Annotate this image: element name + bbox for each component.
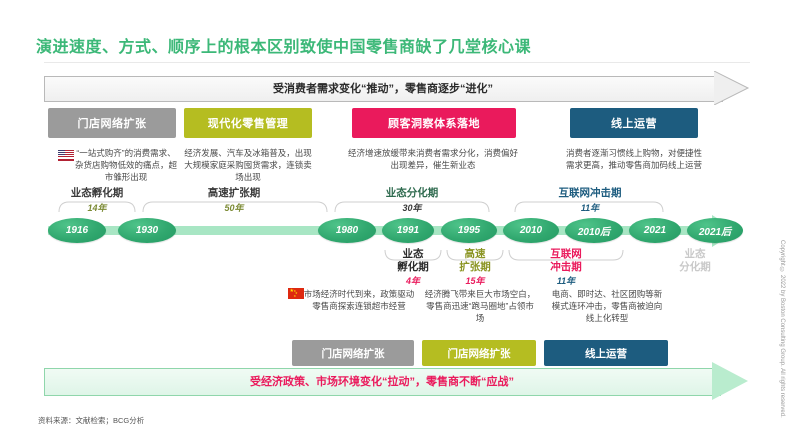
bottom-phase-box-1[interactable]: 门店网络扩张 [292, 340, 414, 366]
bottom-banner-arrow: 受经济政策、市场环境变化“拉动”，零售商不断“应战” [44, 368, 748, 394]
timeline-node-label: 1995 [458, 225, 480, 236]
top-phase-label-1: 门店网络扩张 [78, 115, 147, 131]
top-phase-desc-4: 消费者逐渐习惯线上购物，对便捷性需求更高，推动零售商加码线上运营 [566, 147, 702, 171]
top-phase-desc-2: 经济发展、汽车及冰箱普及，出现大规模家庭采购囤货需求，连锁卖场出现 [182, 147, 314, 183]
top-phase-box-2[interactable]: 现代化零售管理 [184, 108, 312, 138]
lower-era-desc-2: 经济腾飞带来巨大市场空白，零售商迅速“跑马圈地”占领市场 [424, 288, 536, 324]
top-phase-desc-3: 经济增速放缓带来消费者需求分化，消费偏好出现差异，催生新业态 [348, 147, 518, 171]
lower-era-line2-1: 孵化期 [383, 261, 443, 274]
upper-bracket-4 [514, 199, 664, 213]
top-phase-label-2: 现代化零售管理 [208, 115, 289, 131]
lower-era-desc-3: 电商、即时达、社区团购等新模式连环冲击，零售商被迫向线上化转型 [548, 288, 666, 324]
timeline-node-1916[interactable]: 1916 [48, 218, 106, 243]
timeline-node-2021hou[interactable]: 2021后 [687, 218, 743, 243]
bottom-phase-label-3: 线上运营 [585, 346, 627, 361]
lower-era-years-3: 11年 [536, 274, 596, 287]
timeline-node-label: 2021 [644, 225, 666, 236]
timeline-node-label: 2010后 [578, 223, 610, 238]
lower-era-line2-3: 冲击期 [536, 261, 596, 274]
bottom-phase-box-3[interactable]: 线上运营 [544, 340, 668, 366]
timeline-node-2010[interactable]: 2010 [503, 218, 559, 243]
top-phase-desc-1: “一站式购齐”的消费需求、杂货店购物低效的痛点，超市雏形出现 [74, 147, 178, 183]
copyright-note: Copyright © 2022 by Boston Consulting Gr… [779, 240, 785, 418]
top-phase-label-3: 顾客洞察体系落地 [388, 115, 480, 131]
lower-era-line1-1: 业态 [383, 248, 443, 261]
timeline-node-1991[interactable]: 1991 [382, 218, 434, 243]
timeline-node-label: 1930 [136, 225, 158, 236]
upper-era-name-4: 互联网冲击期 [502, 185, 678, 200]
upper-era-name-1: 业态孵化期 [42, 185, 152, 200]
top-phase-label-4: 线上运营 [611, 115, 657, 131]
upper-era-name-2: 高速扩张期 [146, 185, 322, 200]
timeline-node-label: 1991 [397, 225, 419, 236]
bottom-phase-label-2: 门店网络扩张 [448, 346, 511, 361]
timeline-node-1980[interactable]: 1980 [318, 218, 376, 243]
lower-era-line2-4: 分化期 [665, 261, 725, 274]
upper-bracket-1 [58, 199, 136, 213]
timeline-node-2021[interactable]: 2021 [629, 218, 681, 243]
top-phase-box-4[interactable]: 线上运营 [570, 108, 698, 138]
top-phase-box-3[interactable]: 顾客洞察体系落地 [352, 108, 516, 138]
timeline-node-label: 1916 [66, 225, 88, 236]
lower-era-4: 业态 分化期 [665, 248, 725, 273]
top-banner-label: 受消费者需求变化“推动”，零售商逐步“进化” [44, 76, 722, 100]
timeline-node-2010hou[interactable]: 2010后 [565, 218, 623, 243]
timeline-node-1995[interactable]: 1995 [441, 218, 497, 243]
lower-era-3: 互联网 冲击期 11年 [536, 248, 596, 287]
bottom-phase-box-2[interactable]: 门店网络扩张 [422, 340, 536, 366]
us-flag-icon [58, 150, 74, 161]
top-phase-box-1[interactable]: 门店网络扩张 [48, 108, 176, 138]
lower-era-line1-2: 高速 [445, 248, 505, 261]
source-note: 资料来源：文献检索；BCG分析 [38, 415, 144, 426]
upper-bracket-2 [142, 199, 328, 213]
timeline-node-label: 1980 [336, 225, 358, 236]
lower-era-years-2: 15年 [445, 274, 505, 287]
timeline-node-label: 2021后 [699, 223, 731, 238]
lower-era-line1-4: 业态 [665, 248, 725, 261]
lower-era-desc-1: 市场经济时代到来，政策驱动零售商探索连锁超市经营 [300, 288, 418, 312]
slide-root: 演进速度、方式、顺序上的根本区别致使中国零售商缺了几堂核心课 受消费者需求变化“… [0, 0, 789, 444]
title-divider [44, 62, 750, 63]
timeline-node-1930[interactable]: 1930 [118, 218, 176, 243]
lower-era-1: 业态 孵化期 4年 [383, 248, 443, 287]
timeline-node-label: 2010 [520, 225, 542, 236]
lower-era-years-1: 4年 [383, 274, 443, 287]
lower-era-line2-2: 扩张期 [445, 261, 505, 274]
bottom-phase-label-1: 门店网络扩张 [322, 346, 385, 361]
lower-era-2: 高速 扩张期 15年 [445, 248, 505, 287]
top-banner-arrow: 受消费者需求变化“推动”，零售商逐步“进化” [44, 76, 748, 100]
upper-bracket-3 [334, 199, 490, 213]
upper-era-name-3: 业态分化期 [324, 185, 500, 200]
bottom-banner-label: 受经济政策、市场环境变化“拉动”，零售商不断“应战” [44, 368, 720, 394]
page-title: 演进速度、方式、顺序上的根本区别致使中国零售商缺了几堂核心课 [36, 33, 531, 57]
lower-era-line1-3: 互联网 [536, 248, 596, 261]
